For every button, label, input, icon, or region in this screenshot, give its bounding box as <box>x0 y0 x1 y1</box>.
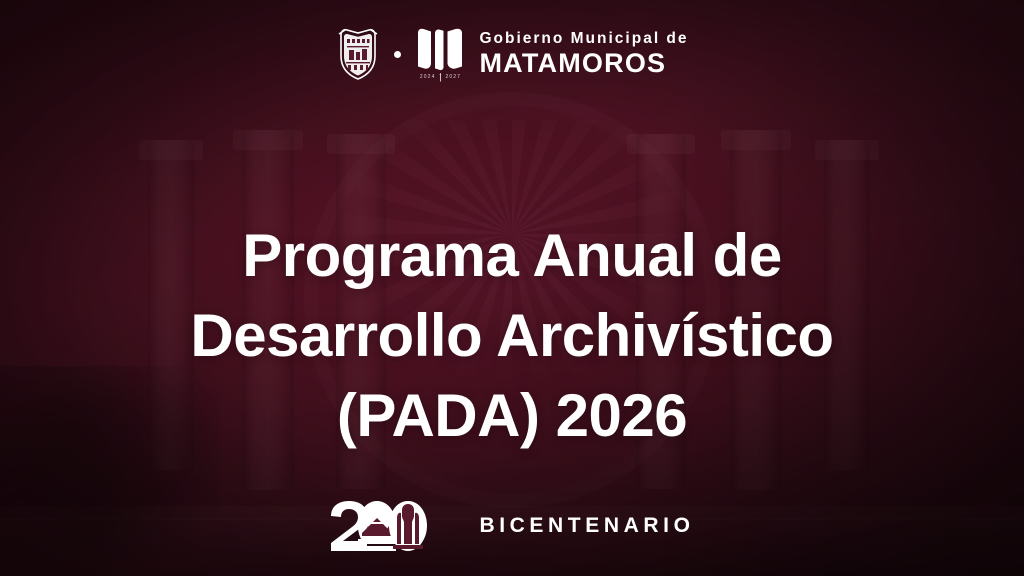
wordmark-subtitle: Gobierno Municipal de <box>479 31 688 47</box>
bicentennial-200-bridge-icon <box>329 500 465 552</box>
page-title: Programa Anual de Desarrollo Archivístic… <box>0 216 1024 455</box>
title-line-3: (PADA) 2026 <box>70 376 954 456</box>
bicentennial-label: BICENTENARIO <box>479 514 694 538</box>
monogram-years: 2024 2027 <box>420 73 461 82</box>
bicentennial-logo-lockup: BICENTENARIO <box>0 500 1024 552</box>
title-line-1: Programa Anual de <box>70 216 954 296</box>
m-monogram-group: 2024 2027 <box>414 27 466 82</box>
government-wordmark: Gobierno Municipal de MATAMOROS <box>479 31 688 77</box>
title-line-2: Desarrollo Archivístico <box>70 296 954 376</box>
m-monogram-icon <box>414 27 466 71</box>
government-logo-lockup: 2024 2027 Gobierno Municipal de MATAMORO… <box>0 26 1024 82</box>
year-start: 2024 <box>420 74 436 80</box>
wordmark-city-name: MATAMOROS <box>479 50 688 77</box>
presentation-slide: 2024 2027 Gobierno Municipal de MATAMORO… <box>0 0 1024 576</box>
dot-separator-icon <box>394 51 401 58</box>
torch-icon <box>438 73 442 82</box>
matamoros-coat-of-arms-icon <box>335 26 381 82</box>
year-end: 2027 <box>445 74 461 80</box>
